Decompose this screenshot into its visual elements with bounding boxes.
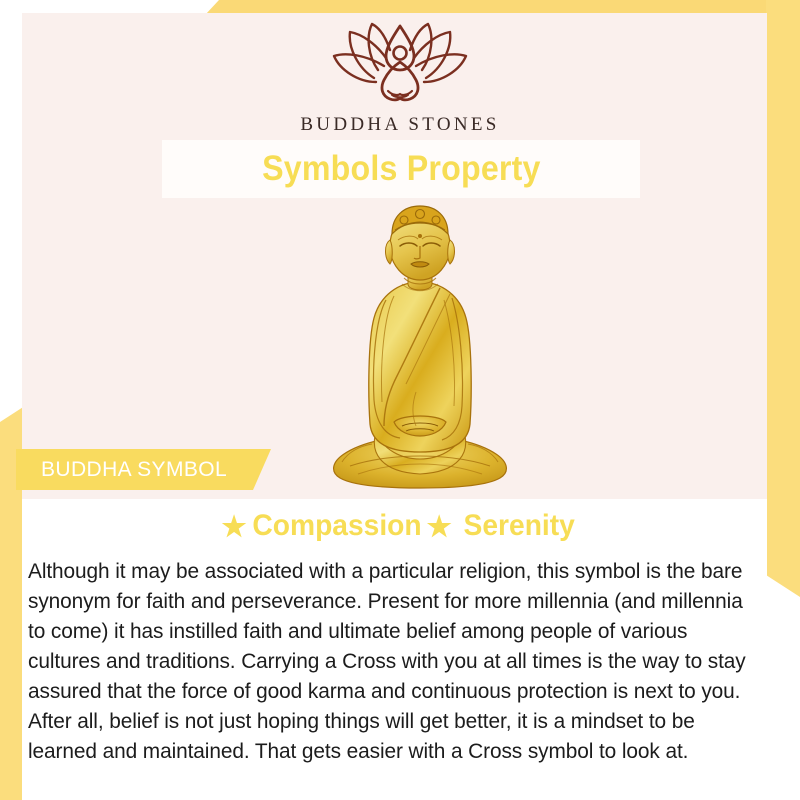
brand-name: BUDDHA STONES [0, 114, 800, 136]
lotus-meditation-icon [0, 22, 800, 108]
page-title: Symbols Property [262, 149, 541, 189]
star-icon-left: ★ [222, 511, 247, 542]
attribute-serenity: Serenity [464, 509, 575, 543]
brand-block: BUDDHA STONES [0, 22, 800, 136]
star-icon-right: ★ [427, 511, 452, 542]
golden-seated-buddha-illustration [320, 200, 520, 492]
poster-root: BUDDHA STONES Symbols Property [0, 0, 800, 800]
buddha-symbol-ribbon: BUDDHA SYMBOL [16, 449, 271, 490]
description-paragraph: Although it may be associated with a par… [28, 556, 746, 766]
attributes-headline: ★Compassion★ Serenity [0, 509, 800, 543]
title-band: Symbols Property [162, 140, 640, 198]
ribbon-label: BUDDHA SYMBOL [16, 458, 227, 482]
description-block: Although it may be associated with a par… [28, 556, 746, 766]
attribute-compassion: Compassion [252, 509, 421, 543]
